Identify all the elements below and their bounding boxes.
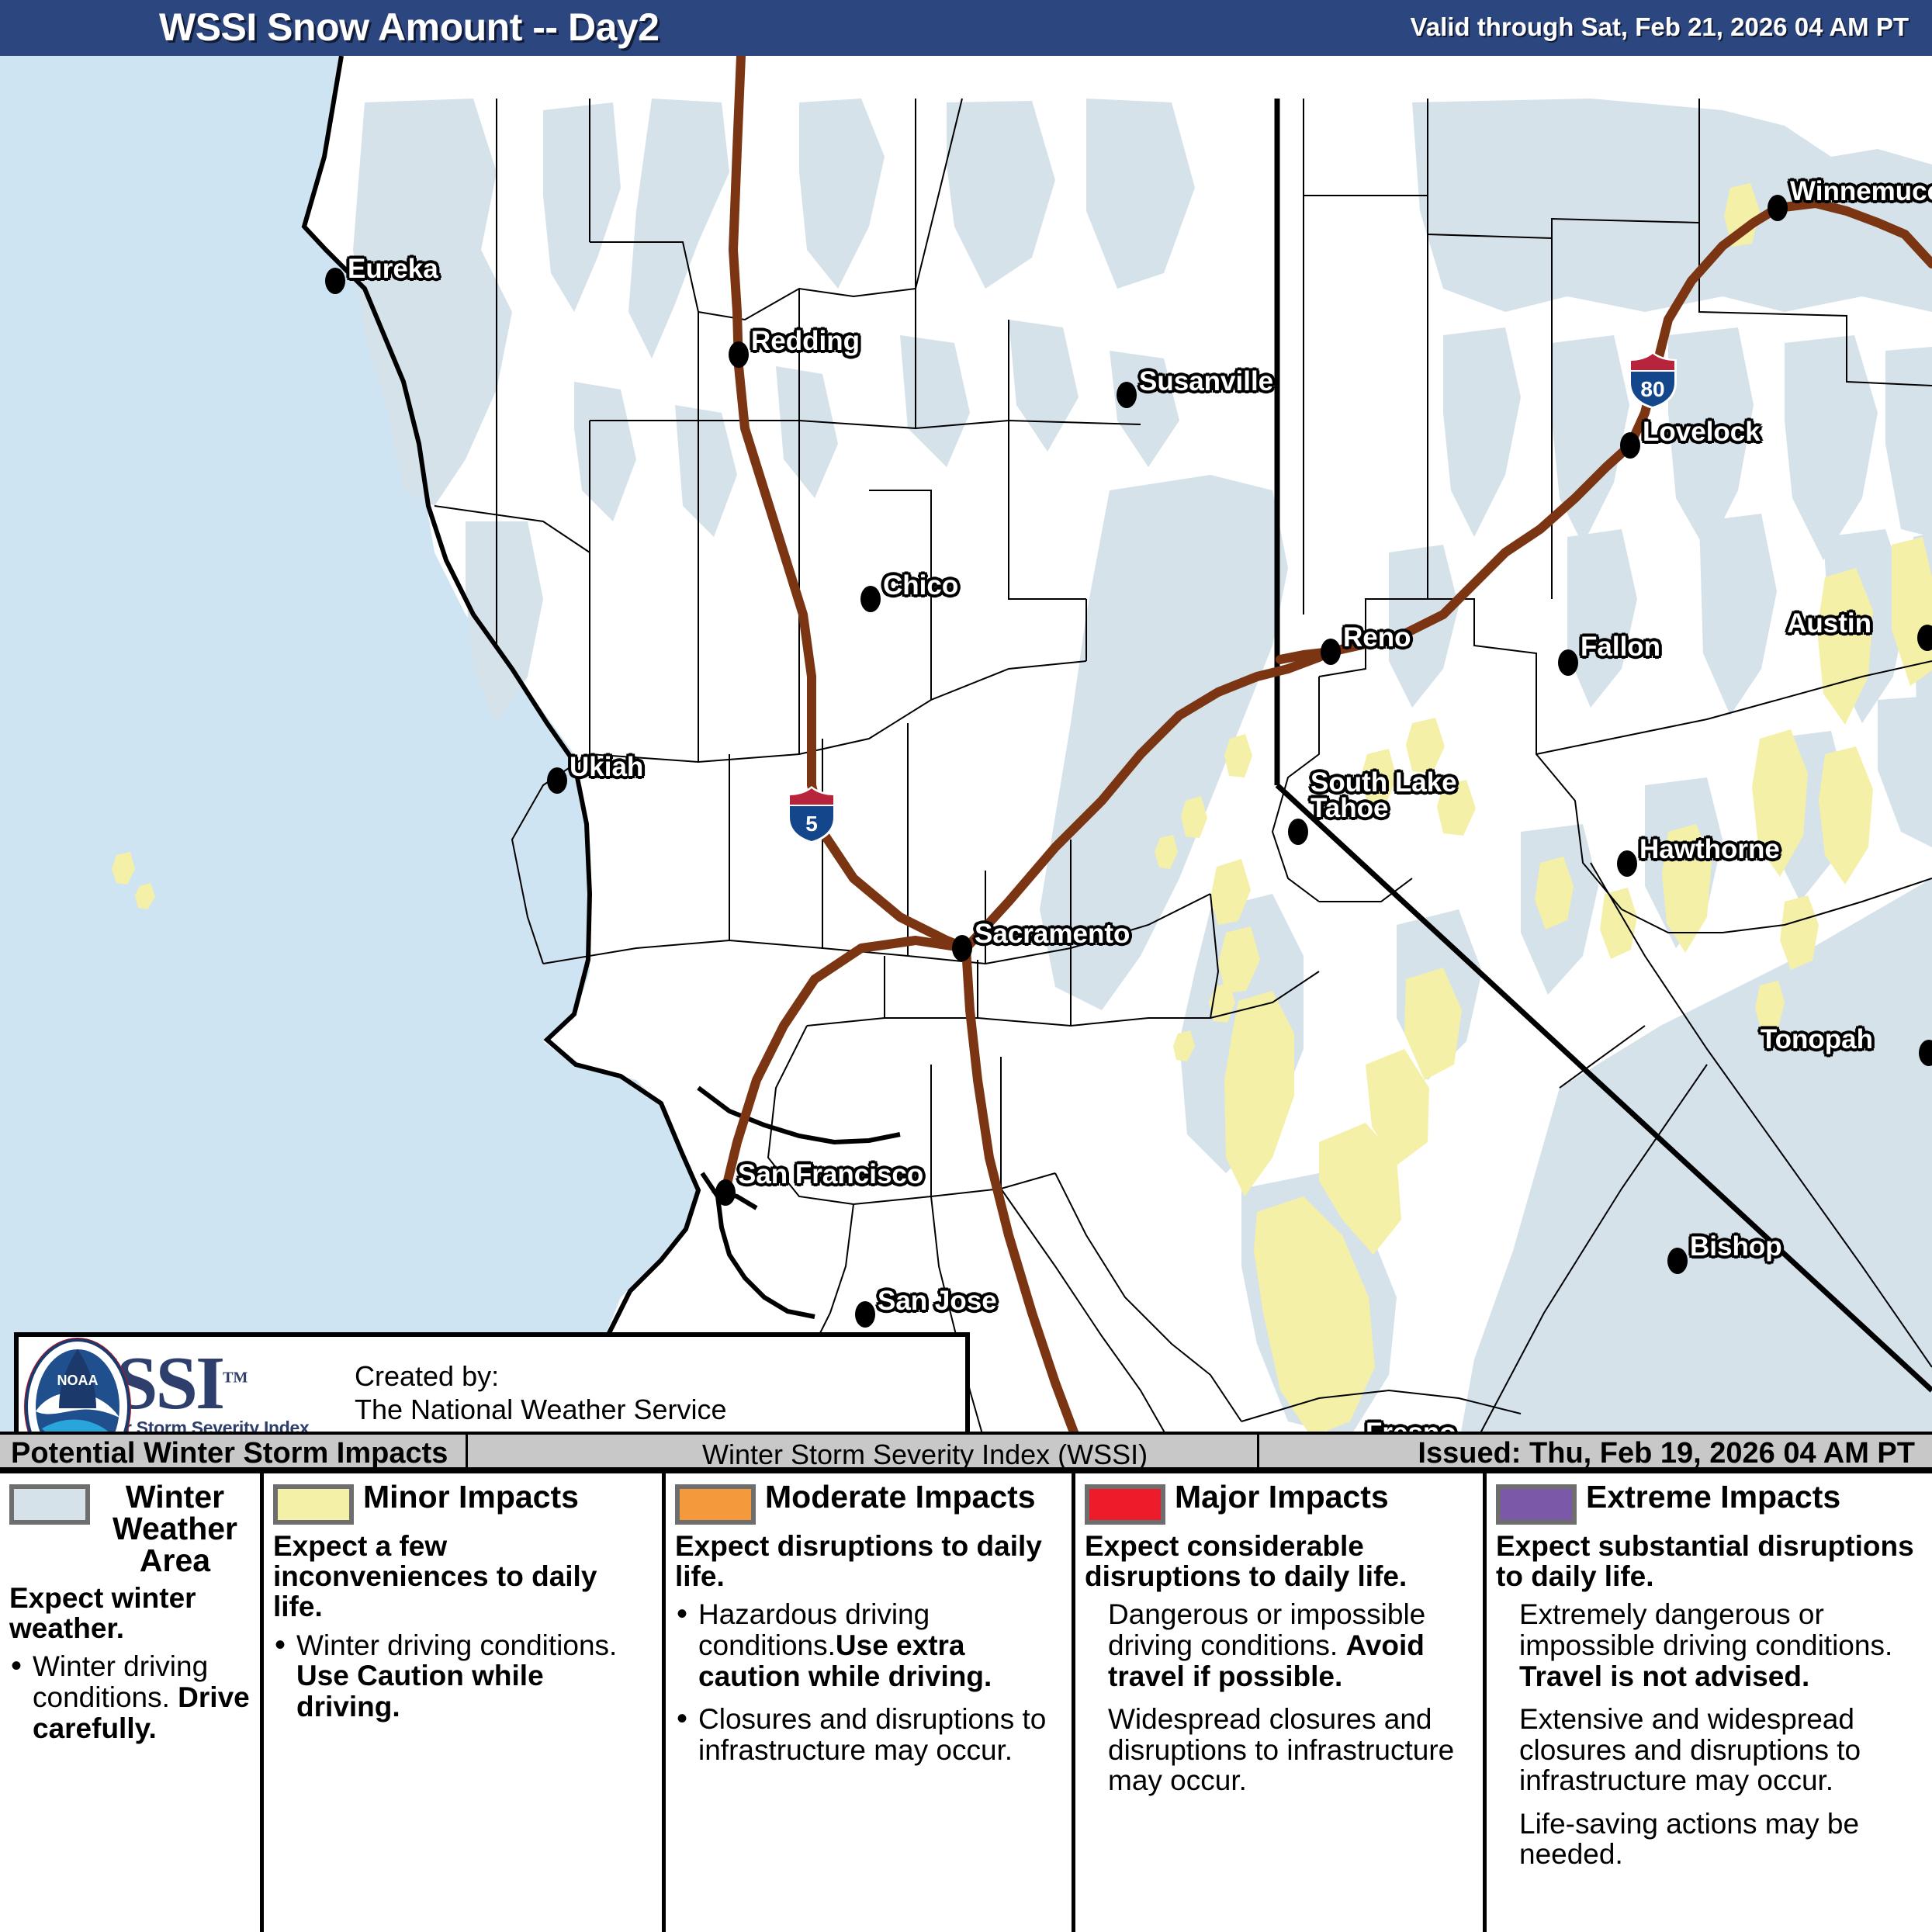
legend-bullet: Hazardous driving conditions.Use extra c… bbox=[675, 1599, 1062, 1691]
city-label: Winnemucca bbox=[1790, 176, 1932, 207]
city-dot bbox=[860, 586, 881, 612]
svg-text:5: 5 bbox=[805, 812, 818, 836]
legend-column-major-impacts[interactable]: Major Impacts Expect considerable disrup… bbox=[1075, 1473, 1487, 1932]
legend-bullets: Winter driving conditions. Use Caution w… bbox=[273, 1630, 653, 1723]
legend-title: Extreme Impacts bbox=[1586, 1481, 1840, 1513]
wssi-map-page: WSSI Snow Amount -- Day2 Valid through S… bbox=[0, 0, 1932, 1932]
city-label: Bishop bbox=[1690, 1231, 1782, 1262]
city-label: San Jose bbox=[878, 1286, 997, 1317]
legend-lead: Expect substantial disruptions to daily … bbox=[1496, 1531, 1923, 1591]
page-title: WSSI Snow Amount -- Day2 bbox=[159, 5, 660, 50]
city-dot bbox=[729, 341, 749, 368]
graybar-divider-1 bbox=[466, 1435, 468, 1470]
legend-swatch bbox=[675, 1484, 756, 1525]
legend-swatch bbox=[1085, 1484, 1165, 1525]
graybar-divider-2 bbox=[1257, 1435, 1259, 1470]
legend-column-extreme-impacts[interactable]: Extreme Impacts Expect substantial disru… bbox=[1487, 1473, 1932, 1932]
legend-header: Extreme Impacts bbox=[1496, 1481, 1923, 1525]
legend-bullet: Extensive and widespread closures and di… bbox=[1496, 1704, 1923, 1796]
legend-bullet: Widespread closures and disruptions to i… bbox=[1085, 1704, 1473, 1796]
legend-bullet: Dangerous or impossible driving conditio… bbox=[1085, 1599, 1473, 1691]
city-dot bbox=[1768, 195, 1788, 221]
legend-bullets: Winter driving conditions. Drive careful… bbox=[9, 1651, 251, 1743]
legend-bullets: Hazardous driving conditions.Use extra c… bbox=[675, 1599, 1062, 1765]
legend-title: Winter Weather Area bbox=[99, 1481, 251, 1577]
interstate-5-shield-icon: 5 bbox=[784, 784, 839, 845]
city-dot bbox=[1620, 432, 1640, 459]
impacts-status-bar: Potential Winter Storm Impacts Winter St… bbox=[0, 1432, 1932, 1470]
noaa-seal-icon: NOAA bbox=[19, 1337, 137, 1445]
legend-bullet: Life-saving actions may be needed. bbox=[1496, 1809, 1923, 1870]
legend-swatch bbox=[1496, 1484, 1577, 1525]
legend-bullets: Dangerous or impossible driving conditio… bbox=[1085, 1599, 1473, 1795]
legend-lead: Expect a few inconveniences to daily lif… bbox=[273, 1531, 653, 1622]
svg-text:NOAA: NOAA bbox=[57, 1373, 99, 1388]
legend-title: Moderate Impacts bbox=[765, 1481, 1036, 1513]
city-dot bbox=[1288, 819, 1308, 845]
impact-legend: Winter Weather Area Expect winter weathe… bbox=[0, 1470, 1932, 1932]
legend-header: Moderate Impacts bbox=[675, 1481, 1062, 1525]
legend-header: Minor Impacts bbox=[273, 1481, 653, 1525]
issued-text: Issued: Thu, Feb 19, 2026 04 AM PT bbox=[1418, 1437, 1915, 1470]
valid-through-text: Valid through Sat, Feb 21, 2026 04 AM PT bbox=[1411, 12, 1909, 42]
city-label: Reno bbox=[1343, 622, 1411, 653]
legend-lead: Expect considerable disruptions to daily… bbox=[1085, 1531, 1473, 1591]
city-label: Ukiah bbox=[570, 752, 643, 783]
legend-bullet: Winter driving conditions. Use Caution w… bbox=[273, 1630, 653, 1723]
legend-bullet: Extremely dangerous or impossible drivin… bbox=[1496, 1599, 1923, 1691]
city-dot bbox=[547, 767, 567, 794]
forecast-map[interactable]: 80 5 EurekaReddingSusanvilleWinnemuccaLo… bbox=[0, 56, 1932, 1445]
legend-bullet: Winter driving conditions. Drive careful… bbox=[9, 1651, 251, 1743]
legend-title: Minor Impacts bbox=[363, 1481, 579, 1513]
city-dot bbox=[855, 1301, 875, 1328]
city-dot bbox=[1667, 1248, 1688, 1274]
city-dot bbox=[1617, 850, 1637, 877]
city-label: San Francisco bbox=[738, 1159, 923, 1190]
city-label: Fallon bbox=[1581, 632, 1660, 663]
interstate-80-shield-icon: 80 bbox=[1626, 350, 1680, 410]
city-label: Hawthorne bbox=[1639, 834, 1780, 865]
city-label: Susanville bbox=[1139, 366, 1273, 397]
city-dot bbox=[1321, 639, 1341, 665]
legend-title: Major Impacts bbox=[1175, 1481, 1389, 1513]
credit-line-2: The National Weather Service bbox=[355, 1394, 727, 1426]
svg-text:80: 80 bbox=[1640, 377, 1664, 401]
city-label: Lovelock bbox=[1643, 417, 1761, 448]
wssi-logo-box: WSSITM The Winter Storm Severity Index W… bbox=[14, 1332, 970, 1445]
city-label: South LakeTahoe bbox=[1311, 770, 1457, 822]
legend-header: Winter Weather Area bbox=[9, 1481, 251, 1577]
city-dot bbox=[715, 1179, 736, 1206]
city-label: Chico bbox=[883, 570, 958, 601]
map-graphics bbox=[0, 56, 1932, 1445]
page-header: WSSI Snow Amount -- Day2 Valid through S… bbox=[0, 0, 1932, 56]
legend-lead: Expect disruptions to daily life. bbox=[675, 1531, 1062, 1591]
city-label: Sacramento bbox=[975, 919, 1130, 950]
city-dot bbox=[1558, 649, 1578, 676]
legend-column-winter-weather-area[interactable]: Winter Weather Area Expect winter weathe… bbox=[0, 1473, 264, 1932]
legend-column-moderate-impacts[interactable]: Moderate Impacts Expect disruptions to d… bbox=[666, 1473, 1075, 1932]
city-dot bbox=[952, 935, 972, 961]
legend-header: Major Impacts bbox=[1085, 1481, 1473, 1525]
legend-bullet: Closures and disruptions to infrastructu… bbox=[675, 1704, 1062, 1765]
legend-swatch bbox=[9, 1484, 90, 1525]
potential-impacts-label: Potential Winter Storm Impacts bbox=[11, 1437, 448, 1470]
city-label: Austin bbox=[1787, 608, 1871, 639]
city-label: Redding bbox=[751, 326, 860, 357]
legend-lead: Expect winter weather. bbox=[9, 1583, 251, 1643]
credit-line-1: Created by: bbox=[355, 1360, 727, 1393]
legend-bullets: Extremely dangerous or impossible drivin… bbox=[1496, 1599, 1923, 1870]
city-label: Eureka bbox=[348, 254, 438, 285]
legend-swatch bbox=[273, 1484, 354, 1525]
legend-column-minor-impacts[interactable]: Minor Impacts Expect a few inconvenience… bbox=[264, 1473, 666, 1932]
city-dot bbox=[325, 268, 345, 294]
city-label: Tonopah bbox=[1761, 1024, 1873, 1055]
city-dot bbox=[1117, 382, 1137, 408]
wssi-subtitle: Winter Storm Severity Index (WSSI) bbox=[702, 1439, 1148, 1471]
city-dot bbox=[1917, 625, 1932, 651]
